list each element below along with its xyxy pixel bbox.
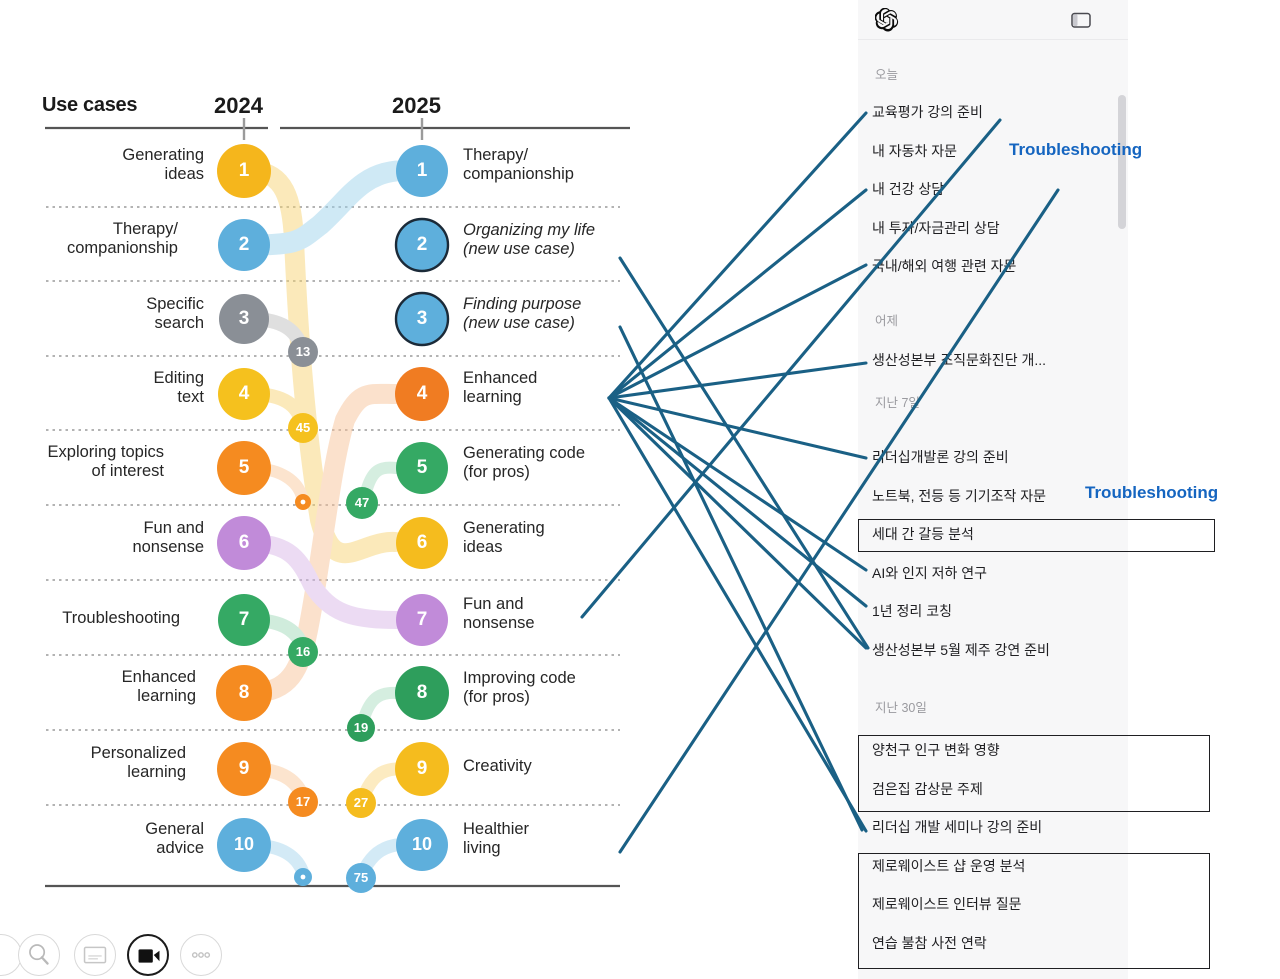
annotation-label-troubleshooting-0: Troubleshooting (1009, 140, 1142, 160)
label-2025-rank-9: Creativity (463, 757, 648, 776)
rank-change-badge-1 (288, 413, 318, 443)
bubbles-2025 (395, 145, 449, 871)
sidebar-conversation-item[interactable]: 노트북, 전등 등 기기조작 자문 (872, 486, 1046, 506)
rank-change-badge-3 (346, 487, 378, 519)
bottom-toolbar (0, 930, 240, 979)
chart-column-header-usecases: Use cases (42, 94, 137, 117)
rank-change-badge-7 (346, 788, 376, 818)
rank-change-badge-9 (346, 863, 376, 893)
label-2025-rank-7: Fun andnonsense (463, 595, 648, 633)
sidebar-group-label-0: 오늘 (875, 64, 898, 83)
sidebar-panel-icon[interactable] (1070, 9, 1092, 31)
label-2024-rank-3: Specificsearch (34, 295, 204, 333)
label-2025-rank-3: Finding purpose(new use case) (463, 295, 648, 333)
chart-column-header-2025: 2025 (392, 93, 441, 119)
annotation-highlight-box-0 (858, 519, 1215, 552)
sidebar-group-label-1: 어제 (875, 310, 898, 329)
label-2024-rank-5: Exploring topicsof interest (0, 443, 164, 481)
sidebar-conversation-item[interactable]: 내 투자/자금관리 상담 (872, 218, 1000, 238)
sidebar-conversation-item[interactable]: 내 자동차 자문 (872, 141, 957, 161)
sidebar-conversation-item[interactable]: 리더십개발론 강의 준비 (872, 447, 1009, 467)
sidebar-conversation-item[interactable]: 내 건강 상담 (872, 179, 944, 199)
chart-column-header-2024: 2024 (214, 93, 263, 119)
rank-change-badge-4 (288, 637, 318, 667)
rank-change-badge-5 (347, 714, 375, 742)
label-2024-rank-8: Enhancedlearning (26, 668, 196, 706)
sidebar-conversation-item[interactable]: 생산성본부 조직문화진단 개... (872, 350, 1046, 370)
label-2025-rank-1: Therapy/companionship (463, 146, 648, 184)
label-2024-rank-1: Generatingideas (34, 146, 204, 184)
label-2025-rank-5: Generating code(for pros) (463, 444, 648, 482)
toolbar-note-card-icon[interactable] (74, 934, 116, 976)
toolbar-magnifier-icon[interactable] (18, 934, 60, 976)
label-2024-rank-7: Troubleshooting (10, 609, 180, 628)
annotation-label-troubleshooting-1: Troubleshooting (1085, 483, 1218, 503)
label-2024-rank-2: Therapy/companionship (8, 220, 178, 258)
sidebar-header (858, 0, 1128, 40)
sidebar-conversation-item[interactable]: 국내/해외 여행 관련 자문 (872, 256, 1016, 276)
label-2024-rank-10: Generaladvice (34, 820, 204, 858)
sidebar-scrollbar-thumb[interactable] (1118, 95, 1126, 229)
label-2025-rank-4: Enhancedlearning (463, 369, 648, 407)
annotation-highlight-box-1 (858, 735, 1210, 812)
label-2025-rank-10: Healthierliving (463, 820, 648, 858)
toolbar-video-camera-icon[interactable] (127, 934, 169, 976)
screenshot-root: Use cases 2024 2025 Generatingideas Ther… (0, 0, 1280, 979)
openai-logo-icon (875, 8, 899, 32)
label-2024-rank-9: Personalizedlearning (16, 744, 186, 782)
sidebar-conversation-item[interactable]: 교육평가 강의 준비 (872, 102, 983, 122)
toolbar-more-dots-icon[interactable] (180, 934, 222, 976)
annotation-highlight-box-2 (858, 853, 1210, 969)
sidebar-conversation-item[interactable]: 1년 정리 코칭 (872, 601, 952, 621)
sidebar-conversation-item[interactable]: AI와 인지 저하 연구 (872, 563, 987, 583)
bubbles-2024 (216, 144, 272, 872)
rank-change-badge-dot-8 (301, 875, 306, 880)
label-2025-rank-2: Organizing my life(new use case) (463, 221, 648, 259)
label-2024-rank-6: Fun andnonsense (34, 519, 204, 557)
sidebar-group-label-2: 지난 7일 (875, 392, 920, 411)
rank-change-badge-0 (288, 337, 318, 367)
use-case-ranking-chart: Use cases 2024 2025 Generatingideas Ther… (0, 0, 660, 920)
rank-change-badge-dot-2 (301, 500, 306, 505)
sidebar-group-label-3: 지난 30일 (875, 697, 927, 716)
label-2024-rank-4: Editingtext (34, 369, 204, 407)
sidebar-conversation-item[interactable]: 리더십 개발 세미나 강의 준비 (872, 817, 1042, 837)
label-2025-rank-6: Generatingideas (463, 519, 648, 557)
rank-change-badge-6 (288, 787, 318, 817)
sidebar-conversation-item[interactable]: 생산성본부 5월 제주 강연 준비 (872, 640, 1050, 660)
label-2025-rank-8: Improving code(for pros) (463, 669, 648, 707)
